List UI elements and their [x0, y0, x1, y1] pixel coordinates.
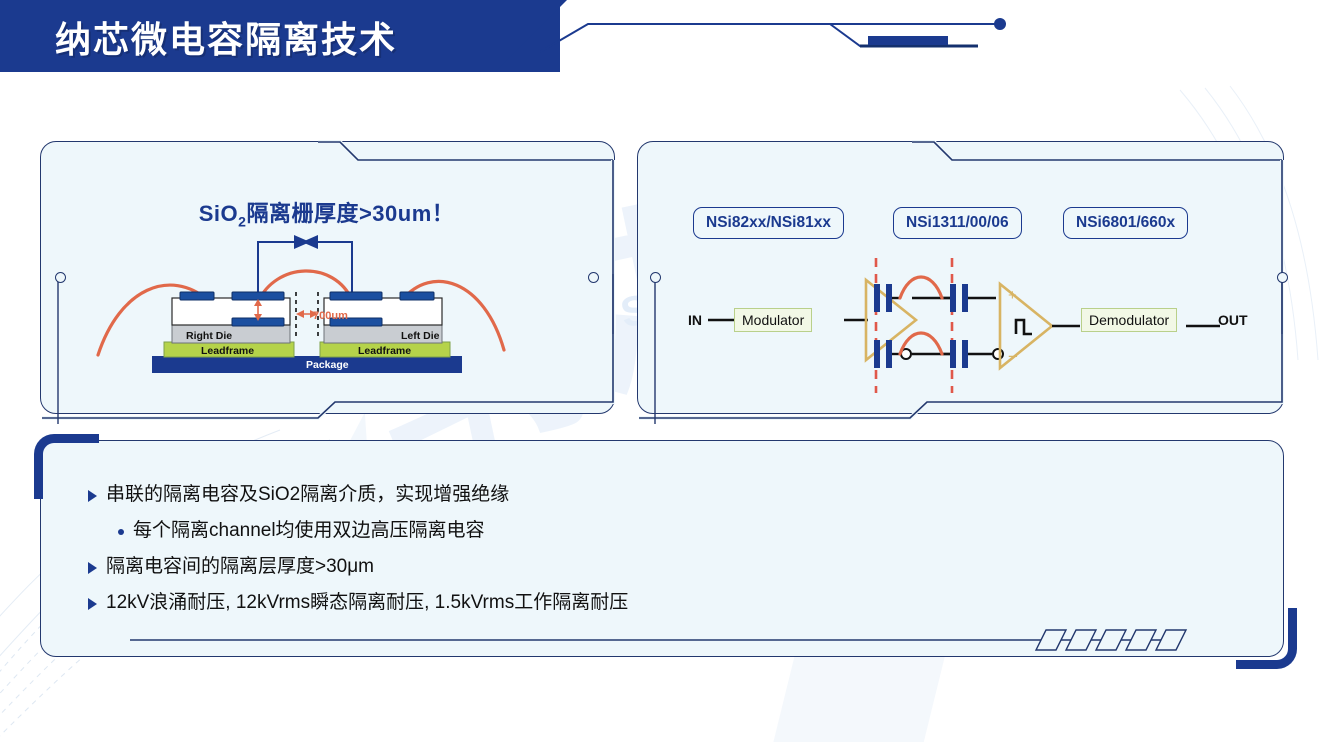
bullet-dot-icon: [118, 529, 124, 535]
sio2-text: SiO: [199, 201, 238, 226]
demodulator-box[interactable]: Demodulator: [1081, 308, 1177, 332]
label-leadframe-right: Leadframe: [358, 345, 411, 357]
sio2-rest: 隔离栅厚度>30um！: [246, 201, 454, 226]
page-title: 纳芯微电容隔离技术: [55, 11, 397, 63]
bottom-panel-frame-overlay: [30, 432, 1300, 672]
slide-root: 纳芯微 ROBUST & RELIABLE 纳芯微电容隔离技术 SiO2隔离栅厚…: [0, 0, 1320, 742]
bullet-text: 12kV浪涌耐压, 12kVrms瞬态隔离耐压, 1.5kVrms工作隔离耐压: [106, 591, 628, 615]
isolation-signal-chain-drawing: + −: [700, 258, 1260, 408]
header-bar-accent: [868, 36, 948, 45]
bullet-2: 隔离电容间的隔离层厚度>30μm: [88, 555, 374, 579]
label-right-die: Right Die: [186, 330, 232, 342]
modulator-box[interactable]: Modulator: [734, 308, 812, 332]
bullet-text: 串联的隔离电容及SiO2隔离介质，实现增强绝缘: [106, 483, 509, 507]
bullet-text: 隔离电容间的隔离层厚度>30μm: [106, 555, 374, 579]
port-left-panel-west: [55, 272, 66, 283]
bullet-0: 串联的隔离电容及SiO2隔离介质，实现增强绝缘: [88, 483, 509, 507]
svg-text:−: −: [1008, 347, 1018, 366]
chip-tag-2[interactable]: NSi6801/660x: [1063, 207, 1188, 239]
sio2-thickness-heading: SiO2隔离栅厚度>30um！: [40, 196, 613, 229]
bottom-panel-corner-accent-br: [1236, 608, 1297, 669]
svg-text:+: +: [1008, 287, 1017, 304]
bullet-text: 每个隔离channel均使用双边高压隔离电容: [133, 519, 485, 543]
port-right-panel-west: [650, 272, 661, 283]
header-trace-decoration: [530, 4, 1050, 74]
bullet-triangle-icon: [88, 598, 97, 610]
port-right-panel-east: [1277, 272, 1288, 283]
bullet-3: 12kV浪涌耐压, 12kVrms瞬态隔离耐压, 1.5kVrms工作隔离耐压: [88, 591, 628, 615]
label-out: OUT: [1218, 312, 1248, 328]
label-leadframe-left: Leadframe: [201, 345, 254, 357]
label-in: IN: [688, 312, 702, 328]
bullet-triangle-icon: [88, 490, 97, 502]
bullet-1: 每个隔离channel均使用双边高压隔离电容: [118, 519, 485, 543]
port-left-panel-east: [588, 272, 599, 283]
bullet-triangle-icon: [88, 562, 97, 574]
label-package: Package: [306, 359, 349, 371]
label-left-die: Left Die: [401, 330, 440, 342]
label-gap-700um: 700um: [313, 310, 348, 322]
chip-tag-0[interactable]: NSi82xx/NSi81xx: [693, 207, 844, 239]
chip-tag-1[interactable]: NSi1311/00/06: [893, 207, 1022, 239]
